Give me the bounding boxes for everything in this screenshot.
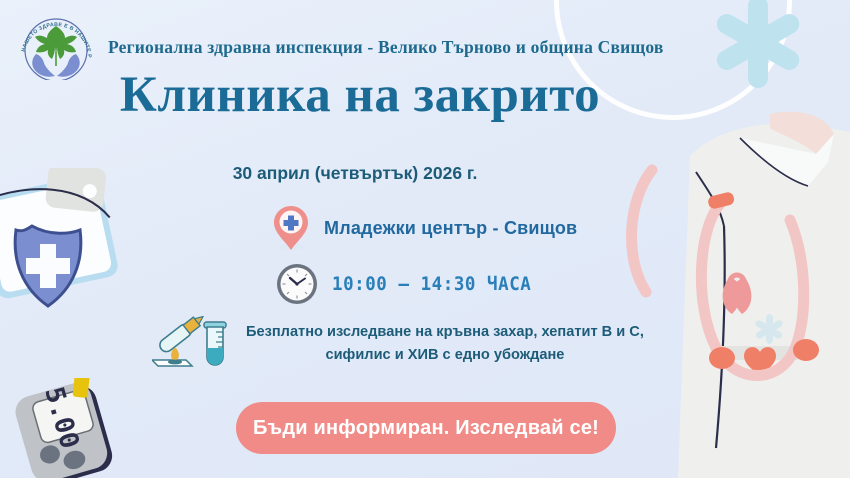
clipboard-shield-illustration [0, 168, 142, 318]
clock-icon [276, 263, 318, 305]
event-date: 30 април (четвъртък) 2026 г. [0, 163, 850, 184]
awareness-ribbon-icon [723, 275, 752, 314]
heart-icon [744, 347, 776, 376]
shield-cross-icon [15, 226, 81, 306]
stethoscope-icon [632, 170, 804, 376]
services-line-2: сифилис и ХИВ с едно убождане [246, 344, 644, 367]
services-text: Безплатно изследване на кръвна захар, хе… [246, 321, 644, 366]
time-row: 10:00 – 14:30 ЧАСА [276, 263, 549, 305]
location-pin-icon [272, 205, 310, 251]
organization-title: Регионална здравна инспекция - Велико Тъ… [108, 37, 664, 58]
services-row: Безплатно изследване на кръвна захар, хе… [152, 316, 644, 372]
star-of-life-coat-icon [754, 314, 784, 344]
star-of-life-small-icon [788, 284, 832, 328]
glucometer-reading: 5.00 [38, 384, 84, 452]
services-line-1: Безплатно изследване на кръвна захар, хе… [246, 324, 644, 340]
glucometer-icon: 5.00 [4, 378, 136, 478]
pipette-test-tube-icon [152, 316, 234, 372]
page-title: Клиника на закрито [0, 66, 850, 124]
poster-canvas: 5.00 НАШЕТО ЗДРАВЕ Е В НАШИТЕ РЪЦЕ [0, 0, 850, 478]
time-text: 10:00 – 14:30 ЧАСА [332, 273, 531, 295]
location-row: Младежки център - Свищов [272, 205, 577, 251]
call-to-action-button[interactable]: Бъди информиран. Изследвай се! [236, 402, 616, 454]
location-text: Младежки център - Свищов [324, 218, 577, 239]
